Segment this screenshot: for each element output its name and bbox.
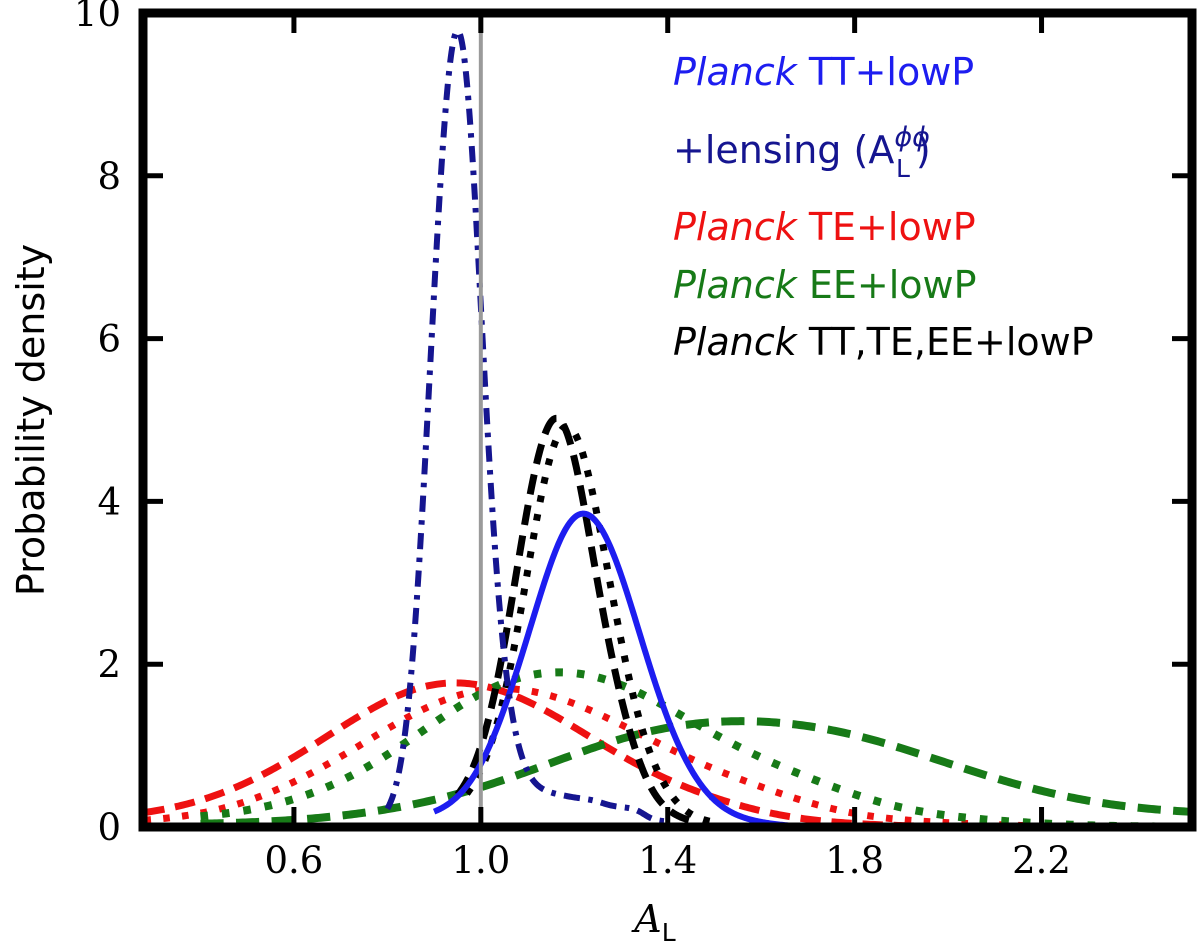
legend-italic-ee-lowp: Planck [673, 263, 809, 307]
legend-roman-tt-lowp: TT+lowP [808, 50, 974, 94]
x-tick-label-3: 1.8 [825, 839, 884, 882]
legend-entry-te-lowp: Planck TE+lowP [673, 205, 976, 249]
chart-svg: 0.61.01.41.82.20246810 Probability densi… [0, 0, 1200, 943]
legend-italic-te-lowp: Planck [673, 205, 809, 249]
figure-probability-density-AL: 0.61.01.41.82.20246810 Probability densi… [0, 0, 1200, 943]
y-tick-label-4: 8 [97, 155, 121, 198]
y-tick-label-0: 0 [97, 806, 121, 849]
legend-roman-ee-lowp: EE+lowP [809, 263, 977, 307]
x-tick-label-4: 2.2 [1012, 839, 1071, 882]
legend-entry-tt-te-ee-lowp: Planck TT,TE,EE+lowP [673, 320, 1094, 364]
legend-entry-ee-lowp: Planck EE+lowP [673, 263, 977, 307]
y-tick-label-2: 4 [97, 480, 121, 523]
y-axis-title: Probability density [9, 244, 53, 596]
figure-background [0, 0, 1200, 943]
legend-roman-tt-lowp-lensing: +lensing (A [673, 128, 894, 172]
x-tick-label-0: 0.6 [265, 839, 324, 882]
y-tick-label-5: 10 [74, 0, 121, 35]
y-tick-label-1: 2 [97, 643, 121, 686]
legend-italic-tt-te-ee-lowp: Planck [673, 320, 809, 364]
x-tick-label-2: 1.4 [638, 839, 697, 882]
legend-entry-tt-lowp: Planck TT+lowP [673, 50, 974, 94]
legend-roman-te-lowp: TE+lowP [808, 205, 976, 249]
legend-tail-tt-lowp-lensing: ) [916, 128, 931, 172]
y-axis-title-text: Probability density [9, 244, 53, 596]
legend-sub-tt-lowp-lensing: L [896, 154, 910, 183]
legend-roman-tt-te-ee-lowp: TT,TE,EE+lowP [808, 320, 1094, 364]
x-axis-title-main: A [631, 897, 661, 941]
x-tick-label-1: 1.0 [451, 839, 510, 882]
legend-italic-tt-lowp: Planck [673, 50, 809, 94]
x-axis-title-sub: L [662, 918, 676, 943]
y-tick-label-3: 6 [97, 318, 121, 361]
